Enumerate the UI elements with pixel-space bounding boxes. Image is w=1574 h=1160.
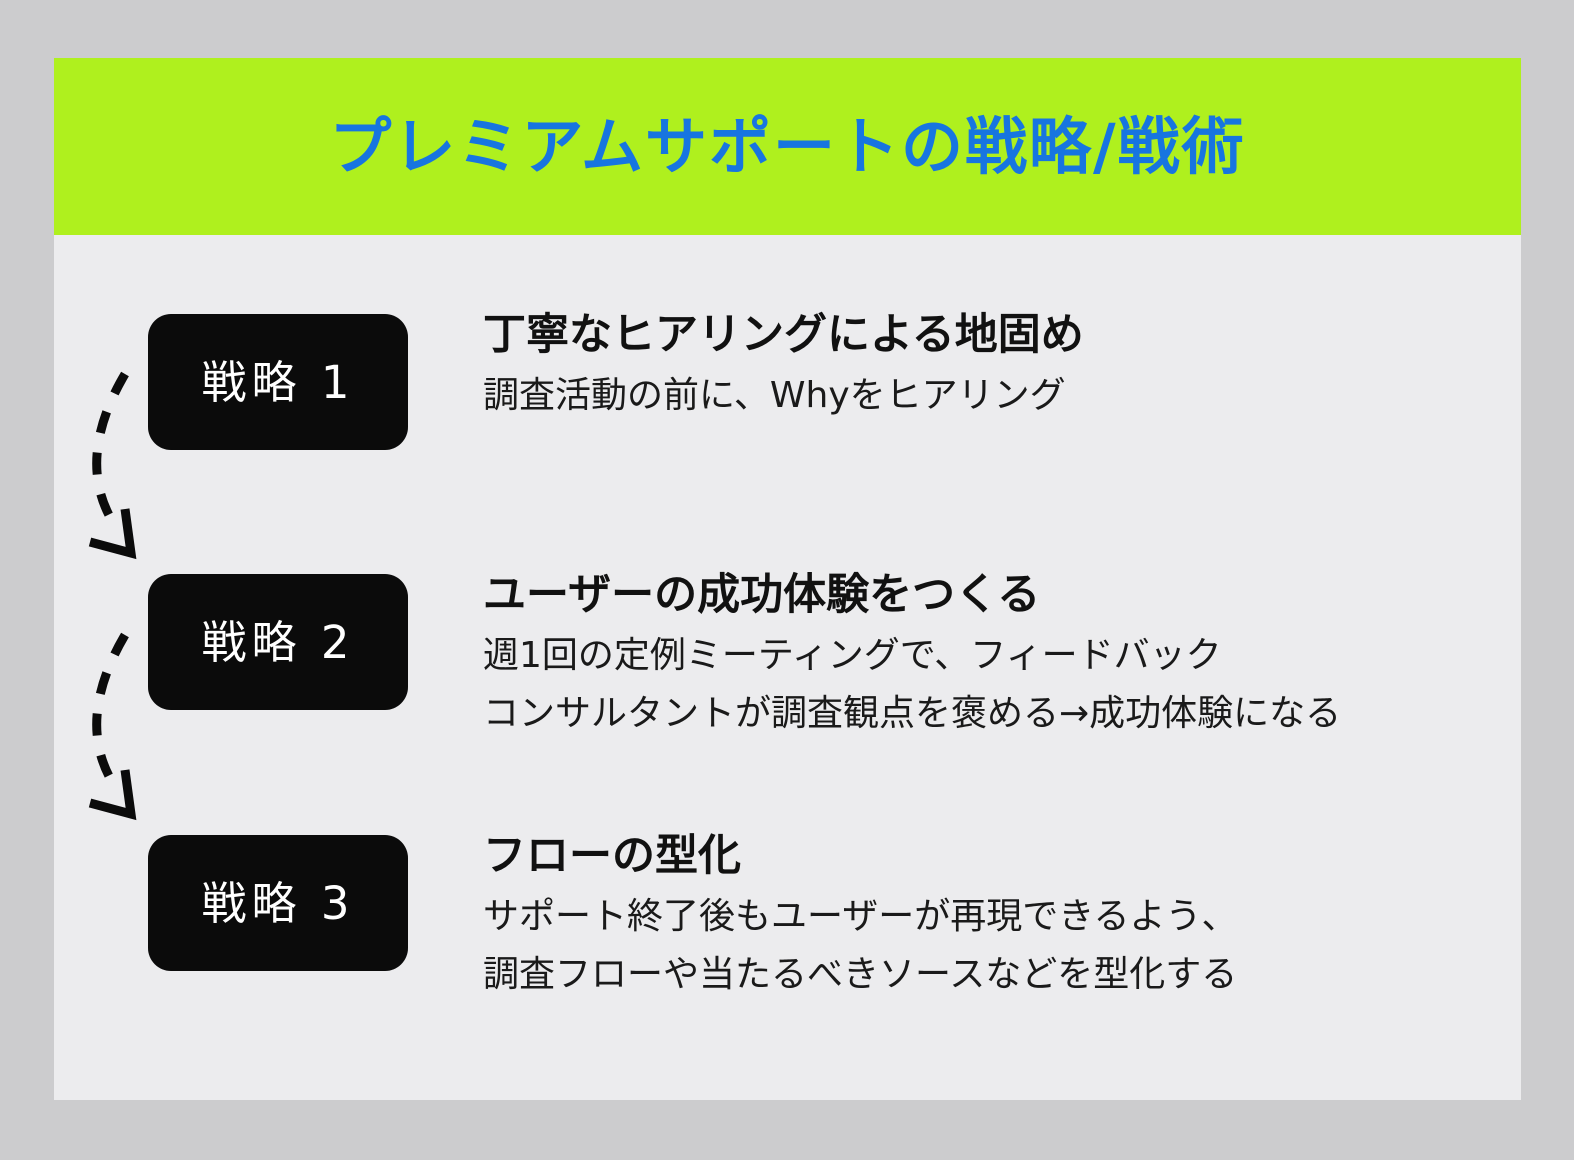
strategy-badge-label-3: 戦略 3 xyxy=(202,881,355,926)
strategy-heading-3: フローの型化 xyxy=(483,831,1493,882)
dashed-arrow-1-to-2-icon xyxy=(90,374,131,553)
strategy-body-line-3-2: 調査フローや当たるべきソースなどを型化する xyxy=(483,946,1493,1004)
strategy-badge-2[interactable]: 戦略 2 xyxy=(148,574,408,710)
strategy-body-line-1-1: 調査活動の前に、Whyをヒアリング xyxy=(483,367,1493,425)
strategy-body-line-2-1: 週1回の定例ミーティングで、フィードバック xyxy=(483,627,1493,685)
strategy-badge-label-1: 戦略 1 xyxy=(202,360,355,405)
strategy-badge-1[interactable]: 戦略 1 xyxy=(148,314,408,450)
strategy-badge-3[interactable]: 戦略 3 xyxy=(148,835,408,971)
strategy-badge-label-2: 戦略 2 xyxy=(202,620,355,665)
strategy-content-1: 丁寧なヒアリングによる地固め 調査活動の前に、Whyをヒアリング xyxy=(483,310,1493,425)
dashed-arrow-2-to-3-icon xyxy=(90,635,131,814)
slide-body: 戦略 1 丁寧なヒアリングによる地固め 調査活動の前に、Whyをヒアリング 戦略… xyxy=(54,235,1521,1100)
strategy-content-2: ユーザーの成功体験をつくる 週1回の定例ミーティングで、フィードバック コンサル… xyxy=(483,570,1493,743)
strategy-body-line-2-2: コンサルタントが調査観点を褒める→成功体験になる xyxy=(483,685,1493,743)
slide-card: プレミアムサポートの戦略/戦術 戦略 1 丁寧なヒアリングによる地固め 調査活動… xyxy=(54,58,1521,1100)
strategy-body-line-3-1: サポート終了後もユーザーが再現できるよう、 xyxy=(483,888,1493,946)
strategy-heading-1: 丁寧なヒアリングによる地固め xyxy=(483,310,1493,361)
slide-header: プレミアムサポートの戦略/戦術 xyxy=(54,58,1521,235)
strategy-content-3: フローの型化 サポート終了後もユーザーが再現できるよう、 調査フローや当たるべき… xyxy=(483,831,1493,1004)
strategy-heading-2: ユーザーの成功体験をつくる xyxy=(483,570,1493,621)
page-title: プレミアムサポートの戦略/戦術 xyxy=(329,116,1245,178)
